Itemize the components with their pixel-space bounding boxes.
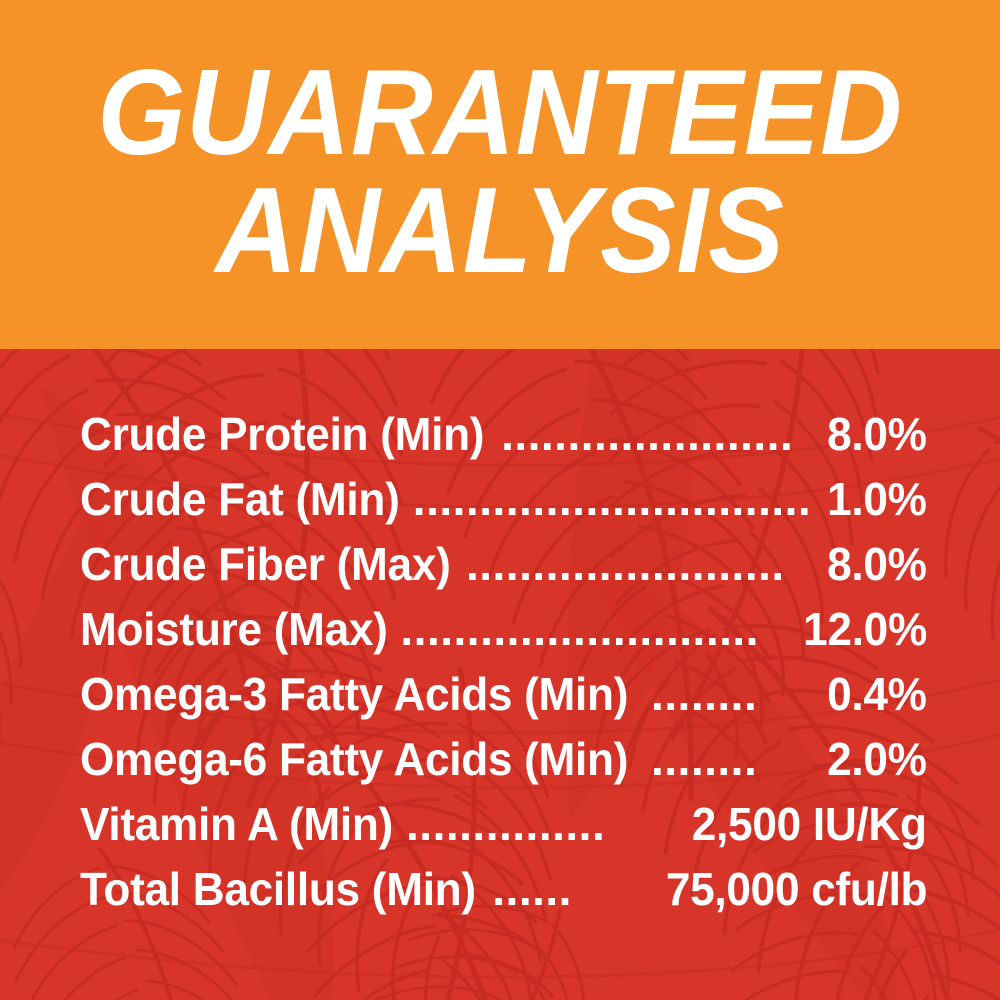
analysis-row-label: Crude Protein (Min) xyxy=(80,411,484,457)
analysis-row-value: 2.0% xyxy=(822,736,927,782)
analysis-row-leader: ........ xyxy=(651,736,817,782)
analysis-row-leader: ...................... xyxy=(501,411,817,457)
analysis-row: Omega-6 Fatty Acids (Min) ........ 2.0% xyxy=(80,736,927,798)
page-title: GUARANTEED ANALYSIS xyxy=(0,0,1000,349)
analysis-row-value: 12.0% xyxy=(797,606,927,652)
analysis-body: Crude Protein (Min) ....................… xyxy=(0,349,1000,1000)
analysis-row-leader: ........................... xyxy=(400,606,792,652)
analysis-row-value: 8.0% xyxy=(822,411,927,457)
analysis-row: Moisture (Max) .........................… xyxy=(80,606,927,668)
analysis-row-label: Crude Fat (Min) xyxy=(80,476,399,522)
analysis-row-label: Omega-3 Fatty Acids (Min) xyxy=(80,671,628,717)
analysis-row: Crude Fat (Min) ........................… xyxy=(80,476,927,538)
analysis-row-label: Moisture (Max) xyxy=(80,606,388,652)
analysis-row-value: 2,500 IU/Kg xyxy=(686,801,927,847)
analysis-row: Total Bacillus (Min) ...... 75,000 cfu/l… xyxy=(80,866,927,928)
analysis-row-leader: ...... xyxy=(492,866,648,912)
analysis-row-value: 1.0% xyxy=(822,476,927,522)
title-line-guaranteed: GUARANTEED xyxy=(97,53,902,173)
guaranteed-analysis-list: Crude Protein (Min) ....................… xyxy=(0,349,1000,1000)
analysis-row-label: Vitamin A (Min) xyxy=(80,801,393,847)
analysis-row-label: Crude Fiber (Max) xyxy=(80,541,451,587)
analysis-row-label: Total Bacillus (Min) xyxy=(80,866,476,912)
title-line-analysis: ANALYSIS xyxy=(216,171,785,291)
analysis-row-leader: ........ xyxy=(651,671,817,717)
analysis-row-label: Omega-6 Fatty Acids (Min) xyxy=(80,736,628,782)
analysis-row: Vitamin A (Min) ............... 2,500 IU… xyxy=(80,801,927,863)
analysis-row-leader: ........................ xyxy=(466,541,817,587)
guaranteed-analysis-panel: GUARANTEED ANALYSIS xyxy=(0,0,1000,1000)
analysis-row: Omega-3 Fatty Acids (Min) ........ 0.4% xyxy=(80,671,927,733)
analysis-row-value: 75,000 cfu/lb xyxy=(660,866,927,912)
analysis-row: Crude Protein (Min) ....................… xyxy=(80,411,927,473)
analysis-row: Crude Fiber (Max) ......................… xyxy=(80,541,927,603)
analysis-row-leader: .............................. xyxy=(413,476,818,522)
analysis-row-leader: ............... xyxy=(406,801,676,847)
analysis-row-value: 8.0% xyxy=(822,541,927,587)
analysis-row-value: 0.4% xyxy=(822,671,927,717)
header-band: GUARANTEED ANALYSIS xyxy=(0,0,1000,349)
